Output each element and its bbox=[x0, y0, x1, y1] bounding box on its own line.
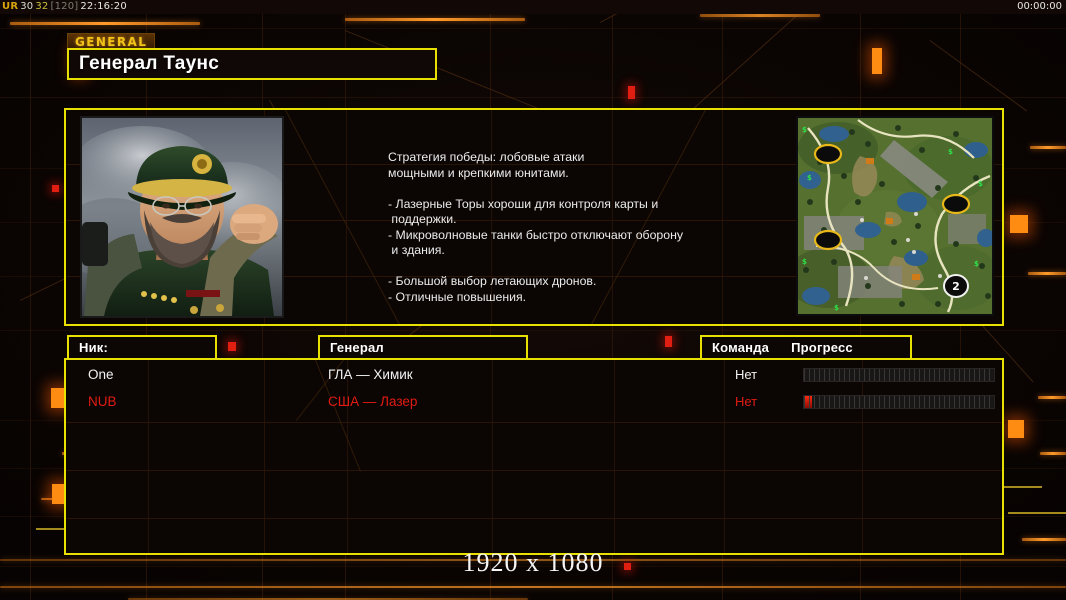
status-clock: 22:16:20 bbox=[80, 1, 127, 12]
row-nick: One bbox=[88, 367, 114, 382]
mission-minimap[interactable]: $$$ $$$ $ 2 bbox=[796, 116, 994, 316]
svg-text:$: $ bbox=[834, 304, 839, 312]
general-description: Стратегия победы: лобовые атаки мощными … bbox=[388, 150, 718, 305]
status-value-a: 30 bbox=[20, 1, 33, 12]
svg-text:$: $ bbox=[978, 180, 983, 188]
general-portrait bbox=[80, 116, 284, 318]
progress-ticks bbox=[804, 369, 994, 381]
screen-root: UR3032[120]22:16:20 00:00:00 GENERAL Ген… bbox=[0, 0, 1066, 600]
page-title: Генерал Таунс bbox=[79, 53, 219, 75]
accent-square bbox=[628, 86, 635, 99]
row-progress-bar bbox=[803, 395, 995, 409]
row-team: Нет bbox=[735, 394, 757, 409]
resolution-label: 1920 x 1080 bbox=[0, 548, 1066, 578]
header-team-label: Команда bbox=[712, 340, 769, 355]
row-progress-bar bbox=[803, 368, 995, 382]
general-title-box: Генерал Таунс bbox=[67, 48, 437, 80]
status-bracket: [120] bbox=[50, 1, 78, 12]
top-status-bar: UR3032[120]22:16:20 00:00:00 bbox=[0, 0, 1066, 14]
header-progress-label: Прогресс bbox=[791, 340, 853, 355]
status-value-b: 32 bbox=[35, 1, 48, 12]
row-general: ГЛА — Химик bbox=[328, 367, 413, 382]
svg-text:$: $ bbox=[802, 126, 807, 134]
player-list-panel: One ГЛА — Химик Нет NUB США — Лазер Нет bbox=[64, 358, 1004, 555]
accent-square bbox=[228, 342, 236, 351]
match-timer: 00:00:00 bbox=[1017, 0, 1062, 13]
minimap-image: $$$ $$$ $ 2 bbox=[798, 118, 992, 314]
row-team: Нет bbox=[735, 367, 757, 382]
accent-square bbox=[1008, 420, 1024, 438]
svg-text:$: $ bbox=[974, 260, 979, 268]
svg-text:$: $ bbox=[948, 148, 953, 156]
header-nick-label: Ник: bbox=[79, 340, 108, 355]
top-status-text: UR3032[120]22:16:20 bbox=[2, 0, 129, 13]
row-nick: NUB bbox=[88, 394, 117, 409]
accent-square bbox=[1010, 215, 1028, 233]
general-info-panel: Стратегия победы: лобовые атаки мощными … bbox=[64, 108, 1004, 326]
svg-text:$: $ bbox=[807, 174, 812, 182]
accent-square bbox=[872, 48, 882, 74]
status-tag: UR bbox=[2, 1, 18, 12]
progress-ticks bbox=[804, 396, 994, 408]
table-row[interactable]: One ГЛА — Химик Нет bbox=[66, 364, 1002, 390]
minimap-start-marker-label: 2 bbox=[952, 280, 960, 293]
header-general-label: Генерал bbox=[330, 340, 384, 355]
accent-square bbox=[52, 185, 59, 192]
portrait-image bbox=[82, 118, 282, 316]
table-row[interactable]: NUB США — Лазер Нет bbox=[66, 391, 1002, 417]
accent-square bbox=[665, 336, 672, 347]
row-general: США — Лазер bbox=[328, 394, 417, 409]
svg-text:$: $ bbox=[802, 258, 807, 266]
